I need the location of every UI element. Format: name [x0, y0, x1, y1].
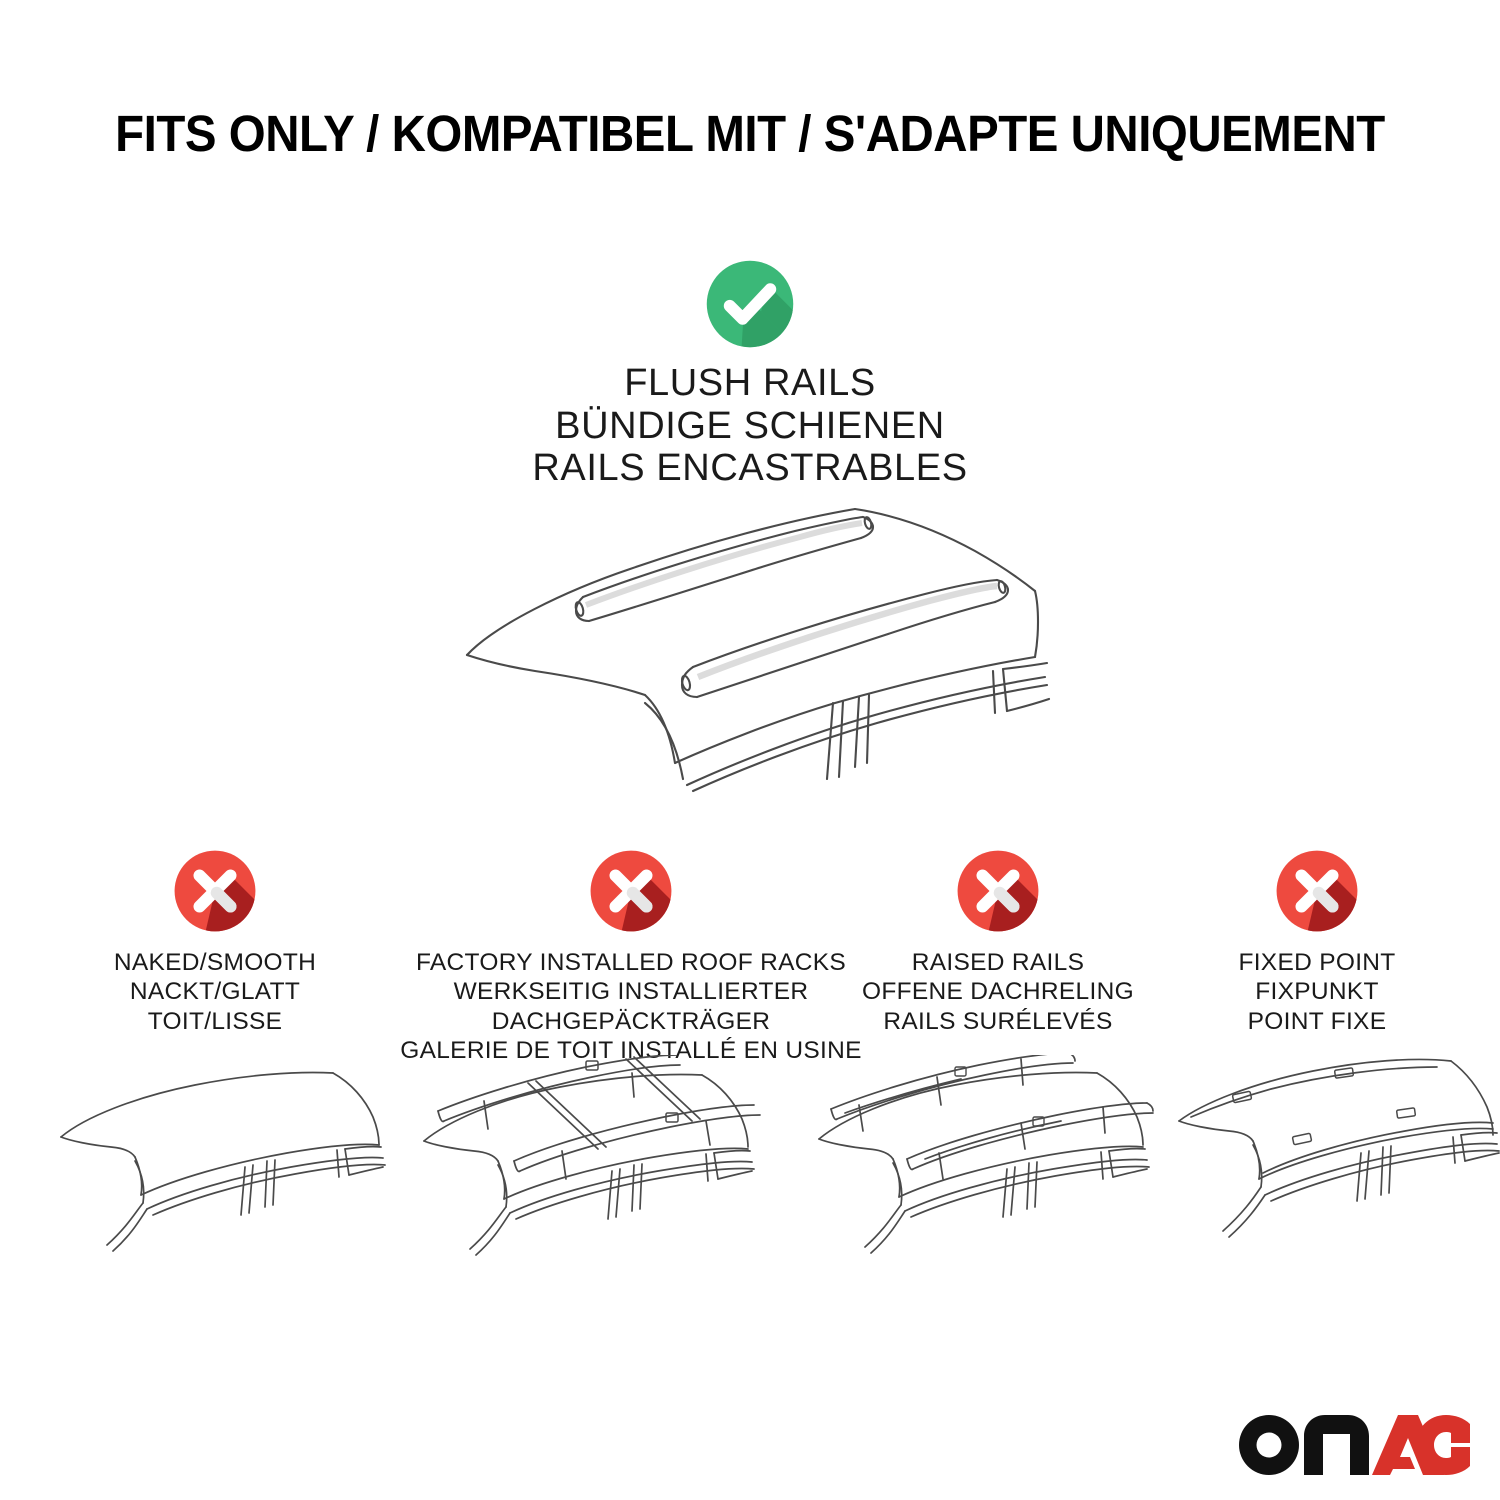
omac-logo — [1238, 1412, 1470, 1478]
not-fits-label-group: NAKED/SMOOTH NACKT/GLATT TOIT/LISSE — [42, 948, 388, 1036]
not-fits-section: NAKED/SMOOTH NACKT/GLATT TOIT/LISSE — [0, 848, 1500, 1078]
car-roof-fixed-point-illustration — [1175, 1055, 1500, 1275]
label-line-en: NAKED/SMOOTH — [42, 948, 388, 977]
red-x-icon — [588, 848, 674, 934]
red-x-icon — [172, 848, 258, 934]
not-fits-item-raised-rails: RAISED RAILS OFFENE DACHRELING RAILS SUR… — [828, 848, 1168, 1036]
flush-rail-near — [680, 580, 1008, 697]
car-roof-factory-racks-illustration — [420, 1055, 790, 1275]
label-line-de: OFFENE DACHRELING — [828, 977, 1168, 1006]
car-roof-raised-rails-illustration — [815, 1055, 1185, 1275]
not-fits-label-group: FACTORY INSTALLED ROOF RACKS WERKSEITIG … — [392, 948, 870, 1066]
not-fits-item-factory-roof-racks: FACTORY INSTALLED ROOF RACKS WERKSEITIG … — [392, 848, 870, 1066]
red-x-icon — [1274, 848, 1360, 934]
label-line-fr: POINT FIXE — [1172, 1007, 1462, 1036]
label-line-de-1: WERKSEITIG INSTALLIERTER — [392, 977, 870, 1006]
not-fits-label-group: RAISED RAILS OFFENE DACHRELING RAILS SUR… — [828, 948, 1168, 1036]
red-x-icon — [955, 848, 1041, 934]
not-fits-item-naked-smooth: NAKED/SMOOTH NACKT/GLATT TOIT/LISSE — [42, 848, 388, 1036]
fits-label-fr: RAILS ENCASTRABLES — [0, 447, 1500, 490]
green-check-icon — [704, 258, 796, 350]
page-title: FITS ONLY / KOMPATIBEL MIT / S'ADAPTE UN… — [53, 104, 1448, 163]
label-line-en: FACTORY INSTALLED ROOF RACKS — [392, 948, 870, 977]
fixed-mounting-point — [1232, 1068, 1415, 1145]
label-line-fr: RAILS SURÉLEVÉS — [828, 1007, 1168, 1036]
logo-letter-m — [1304, 1415, 1369, 1475]
label-line-de-2: DACHGEPÄCKTRÄGER — [392, 1007, 870, 1036]
label-line-de: FIXPUNKT — [1172, 977, 1462, 1006]
rail-clamp — [955, 1067, 1044, 1126]
label-line-en: RAISED RAILS — [828, 948, 1168, 977]
label-line-en: FIXED POINT — [1172, 948, 1462, 977]
label-line-de: NACKT/GLATT — [42, 977, 388, 1006]
logo-letter-o — [1239, 1415, 1299, 1475]
roof-side-rails — [438, 1055, 760, 1179]
fits-label-group: FLUSH RAILS BÜNDIGE SCHIENEN RAILS ENCAS… — [0, 362, 1500, 490]
fitment-infographic: FITS ONLY / KOMPATIBEL MIT / S'ADAPTE UN… — [0, 0, 1500, 1500]
fits-label-de: BÜNDIGE SCHIENEN — [0, 405, 1500, 448]
car-roof-flush-rails-illustration — [455, 495, 1055, 795]
label-line-fr: TOIT/LISSE — [42, 1007, 388, 1036]
fits-label-en: FLUSH RAILS — [0, 362, 1500, 405]
not-fits-item-fixed-point: FIXED POINT FIXPUNKT POINT FIXE — [1172, 848, 1462, 1036]
roof-cross-bars — [528, 1057, 700, 1149]
not-fits-label-group: FIXED POINT FIXPUNKT POINT FIXE — [1172, 948, 1462, 1036]
car-roof-naked-illustration — [55, 1055, 400, 1275]
fits-section: FLUSH RAILS BÜNDIGE SCHIENEN RAILS ENCAS… — [0, 258, 1500, 490]
